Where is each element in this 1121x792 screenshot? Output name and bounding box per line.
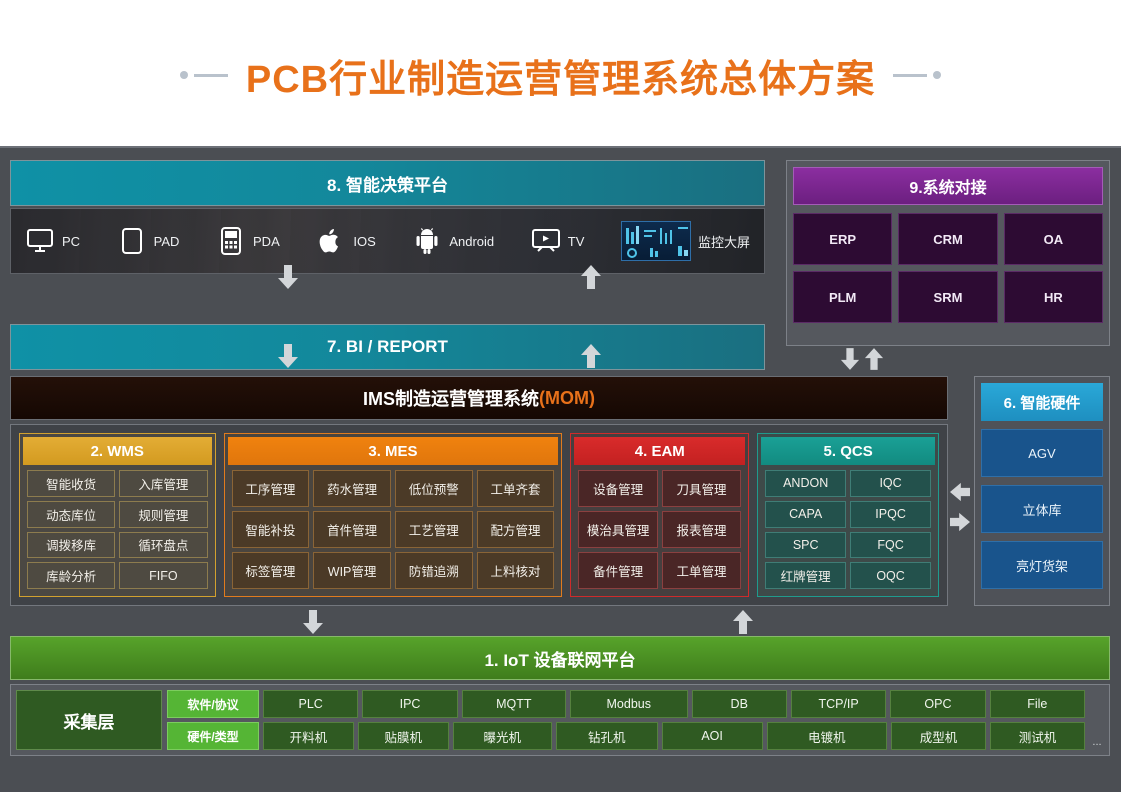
tile-eam-3[interactable]: 报表管理 bbox=[662, 511, 741, 548]
iot-cell-modbus[interactable]: Modbus bbox=[570, 690, 688, 718]
down-arrow-icon bbox=[302, 610, 324, 634]
tile-qcs-2[interactable]: CAPA bbox=[765, 501, 846, 528]
layer8-band: 8. 智能决策平台 bbox=[10, 160, 765, 206]
device-ios[interactable]: IOS bbox=[316, 226, 375, 256]
module-eam: 4. EAM 设备管理 刀具管理 模治具管理 报表管理 备件管理 工单管理 bbox=[570, 433, 749, 597]
panel6-tiles: AGV 立体库 亮灯货架 bbox=[981, 429, 1103, 589]
device-pad[interactable]: PAD bbox=[117, 226, 180, 256]
panel9-tile-oa[interactable]: OA bbox=[1004, 213, 1103, 265]
tile-wms-1[interactable]: 入库管理 bbox=[119, 470, 207, 497]
down-arrow-icon bbox=[277, 265, 299, 289]
iot-cell-plc[interactable]: PLC bbox=[263, 690, 358, 718]
iot-cell-cutting[interactable]: 开料机 bbox=[263, 722, 354, 750]
tablet-icon bbox=[117, 226, 147, 256]
tile-eam-2[interactable]: 模治具管理 bbox=[578, 511, 657, 548]
tile-qcs-5[interactable]: FQC bbox=[850, 532, 931, 559]
panel6-header: 6. 智能硬件 bbox=[981, 383, 1103, 421]
iot-key-hardware: 硬件/类型 bbox=[167, 722, 259, 750]
mom-band: IMS制造运营管理系统(MOM) bbox=[10, 376, 948, 420]
tile-qcs-4[interactable]: SPC bbox=[765, 532, 846, 559]
iot-cell-plating[interactable]: 电镀机 bbox=[767, 722, 887, 750]
panel6-tile-agv[interactable]: AGV bbox=[981, 429, 1103, 477]
tile-qcs-7[interactable]: OQC bbox=[850, 562, 931, 589]
device-strip: PC PAD PDA bbox=[10, 208, 765, 274]
module-eam-header: 4. EAM bbox=[574, 437, 745, 465]
diagram-page: PCB行业制造运营管理系统总体方案 8. 智能决策平台 PC bbox=[0, 0, 1121, 792]
iot-cell-tcpip[interactable]: TCP/IP bbox=[791, 690, 886, 718]
up-arrow-icon bbox=[864, 348, 884, 370]
tile-wms-7[interactable]: FIFO bbox=[119, 562, 207, 589]
iot-cell-mqtt[interactable]: MQTT bbox=[462, 690, 566, 718]
right-arrow-icon bbox=[950, 511, 970, 533]
iot-cell-opc[interactable]: OPC bbox=[890, 690, 985, 718]
module-mes-header: 3. MES bbox=[228, 437, 559, 465]
device-label: Android bbox=[449, 234, 494, 249]
collect-layer-label: 采集层 bbox=[16, 690, 162, 750]
mom-accent-label: (MOM) bbox=[539, 388, 595, 409]
tile-mes-5[interactable]: 首件管理 bbox=[313, 511, 391, 548]
deco-dot-icon bbox=[180, 71, 188, 79]
tile-mes-6[interactable]: 工艺管理 bbox=[395, 511, 473, 548]
device-label: PDA bbox=[253, 234, 280, 249]
tv-icon bbox=[531, 226, 561, 256]
tile-qcs-0[interactable]: ANDON bbox=[765, 470, 846, 497]
panel-system-integration: 9.系统对接 ERP CRM OA PLM SRM HR bbox=[786, 160, 1110, 346]
device-pda[interactable]: PDA bbox=[216, 226, 280, 256]
iot-cell-laminating[interactable]: 贴膜机 bbox=[358, 722, 449, 750]
apple-icon bbox=[316, 226, 346, 256]
deco-dot-icon bbox=[933, 71, 941, 79]
panel6-tile-asrs[interactable]: 立体库 bbox=[981, 485, 1103, 533]
mom-label: IMS制造运营管理系统 bbox=[363, 385, 539, 411]
tile-wms-5[interactable]: 循环盘点 bbox=[119, 532, 207, 559]
iot-cell-forming[interactable]: 成型机 bbox=[891, 722, 986, 750]
tile-mes-4[interactable]: 智能补投 bbox=[232, 511, 310, 548]
deco-dash-icon bbox=[893, 74, 927, 77]
tile-qcs-3[interactable]: IPQC bbox=[850, 501, 931, 528]
tile-mes-3[interactable]: 工单齐套 bbox=[477, 470, 555, 507]
device-tv[interactable]: TV bbox=[531, 226, 585, 256]
tile-wms-0[interactable]: 智能收货 bbox=[27, 470, 115, 497]
tile-mes-7[interactable]: 配方管理 bbox=[477, 511, 555, 548]
iot-cell-db[interactable]: DB bbox=[692, 690, 787, 718]
tile-mes-1[interactable]: 药水管理 bbox=[313, 470, 391, 507]
panel9-tile-erp[interactable]: ERP bbox=[793, 213, 892, 265]
android-icon bbox=[412, 226, 442, 256]
up-arrow-icon bbox=[580, 265, 602, 289]
down-arrow-icon bbox=[840, 348, 860, 370]
dashboard-screen-icon bbox=[621, 221, 691, 261]
iot-cell-testing[interactable]: 测试机 bbox=[990, 722, 1085, 750]
device-label: IOS bbox=[353, 234, 375, 249]
core-modules: 2. WMS 智能收货 入库管理 动态库位 规则管理 调拨移库 循环盘点 库龄分… bbox=[10, 424, 948, 606]
iot-band: 1. IoT 设备联网平台 bbox=[10, 636, 1110, 680]
page-title-text: PCB行业制造运营管理系统总体方案 bbox=[246, 48, 875, 103]
tile-wms-6[interactable]: 库龄分析 bbox=[27, 562, 115, 589]
panel9-grid: ERP CRM OA PLM SRM HR bbox=[793, 213, 1103, 323]
tile-wms-4[interactable]: 调拨移库 bbox=[27, 532, 115, 559]
tile-qcs-1[interactable]: IQC bbox=[850, 470, 931, 497]
page-title: PCB行业制造运营管理系统总体方案 bbox=[0, 44, 1121, 106]
tile-mes-2[interactable]: 低位预警 bbox=[395, 470, 473, 507]
iot-cell-file[interactable]: File bbox=[990, 690, 1085, 718]
tile-mes-10[interactable]: 防错追溯 bbox=[395, 552, 473, 589]
title-deco-left bbox=[180, 71, 228, 79]
deco-dash-icon bbox=[194, 74, 228, 77]
iot-table: 采集层 软件/协议 PLC IPC MQTT Modbus DB TCP/IP … bbox=[10, 684, 1110, 756]
module-wms-tiles: 智能收货 入库管理 动态库位 规则管理 调拨移库 循环盘点 库龄分析 FIFO bbox=[23, 465, 212, 593]
diagram-canvas: 8. 智能决策平台 PC PAD bbox=[0, 146, 1121, 792]
device-label: PC bbox=[62, 234, 80, 249]
module-qcs: 5. QCS ANDON IQC CAPA IPQC SPC FQC 红牌管理 … bbox=[757, 433, 939, 597]
tile-mes-0[interactable]: 工序管理 bbox=[232, 470, 310, 507]
panel-smart-hardware: 6. 智能硬件 AGV 立体库 亮灯货架 bbox=[974, 376, 1110, 606]
iot-row-software: 软件/协议 PLC IPC MQTT Modbus DB TCP/IP OPC … bbox=[167, 690, 1085, 718]
layer7-band: 7. BI / REPORT bbox=[10, 324, 765, 370]
tile-mes-9[interactable]: WIP管理 bbox=[313, 552, 391, 589]
panel9-header: 9.系统对接 bbox=[793, 167, 1103, 205]
module-wms-header: 2. WMS bbox=[23, 437, 212, 465]
device-label: TV bbox=[568, 234, 585, 249]
module-qcs-tiles: ANDON IQC CAPA IPQC SPC FQC 红牌管理 OQC bbox=[761, 465, 935, 593]
tile-wms-3[interactable]: 规则管理 bbox=[119, 501, 207, 528]
module-mes: 3. MES 工序管理 药水管理 低位预警 工单齐套 智能补投 首件管理 工艺管… bbox=[224, 433, 563, 597]
device-android[interactable]: Android bbox=[412, 226, 494, 256]
left-column: 8. 智能决策平台 PC PAD bbox=[10, 160, 765, 370]
module-wms: 2. WMS 智能收货 入库管理 动态库位 规则管理 调拨移库 循环盘点 库龄分… bbox=[19, 433, 216, 597]
tile-eam-0[interactable]: 设备管理 bbox=[578, 470, 657, 507]
module-qcs-header: 5. QCS bbox=[761, 437, 935, 465]
left-arrow-icon bbox=[950, 481, 970, 503]
device-pc[interactable]: PC bbox=[25, 226, 80, 256]
panel9-tile-plm[interactable]: PLM bbox=[793, 271, 892, 323]
panel9-tile-hr[interactable]: HR bbox=[1004, 271, 1103, 323]
tile-qcs-6[interactable]: 红牌管理 bbox=[765, 562, 846, 589]
monitor-icon bbox=[25, 226, 55, 256]
tile-mes-8[interactable]: 标签管理 bbox=[232, 552, 310, 589]
title-deco-right bbox=[893, 71, 941, 79]
tile-mes-11[interactable]: 上料核对 bbox=[477, 552, 555, 589]
device-bigscreen[interactable]: 监控大屏 bbox=[621, 221, 750, 261]
iot-cell-ipc[interactable]: IPC bbox=[362, 690, 457, 718]
iot-cell-aoi[interactable]: AOI bbox=[662, 722, 763, 750]
up-arrow-icon bbox=[580, 344, 602, 368]
device-label: PAD bbox=[154, 234, 180, 249]
down-arrow-icon bbox=[277, 344, 299, 368]
up-arrow-icon bbox=[732, 610, 754, 634]
handheld-scanner-icon bbox=[216, 226, 246, 256]
panel6-tile-pick-to-light[interactable]: 亮灯货架 bbox=[981, 541, 1103, 589]
module-mes-tiles: 工序管理 药水管理 低位预警 工单齐套 智能补投 首件管理 工艺管理 配方管理 … bbox=[228, 465, 559, 593]
iot-more-indicator: ... bbox=[1090, 690, 1104, 750]
iot-cell-exposure[interactable]: 曝光机 bbox=[453, 722, 552, 750]
tile-wms-2[interactable]: 动态库位 bbox=[27, 501, 115, 528]
iot-row-hardware: 硬件/类型 开料机 贴膜机 曝光机 钻孔机 AOI 电镀机 成型机 测试机 bbox=[167, 722, 1085, 750]
panel9-tile-srm[interactable]: SRM bbox=[898, 271, 997, 323]
module-eam-tiles: 设备管理 刀具管理 模治具管理 报表管理 备件管理 工单管理 bbox=[574, 465, 745, 593]
tile-eam-5[interactable]: 工单管理 bbox=[662, 552, 741, 589]
device-label: 监控大屏 bbox=[698, 232, 750, 251]
tile-eam-4[interactable]: 备件管理 bbox=[578, 552, 657, 589]
iot-rows: 软件/协议 PLC IPC MQTT Modbus DB TCP/IP OPC … bbox=[167, 690, 1085, 750]
panel9-tile-crm[interactable]: CRM bbox=[898, 213, 997, 265]
tile-eam-1[interactable]: 刀具管理 bbox=[662, 470, 741, 507]
iot-key-software: 软件/协议 bbox=[167, 690, 259, 718]
iot-cell-drilling[interactable]: 钻孔机 bbox=[556, 722, 658, 750]
